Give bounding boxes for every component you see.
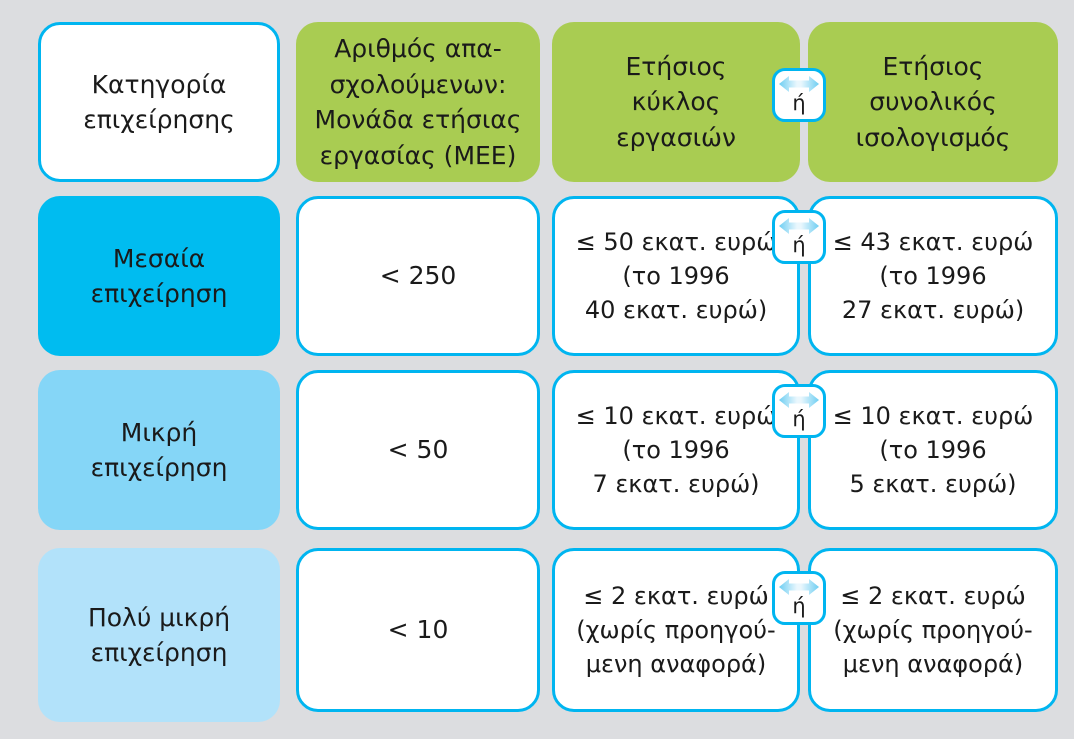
cell-small-balance: ≤ 10 εκατ. ευρώ (το 1996 5 εκατ. ευρώ): [808, 370, 1058, 530]
cell-medium-balance-value: ≤ 43 εκατ. ευρώ (το 1996 27 εκατ. ευρώ): [823, 225, 1044, 327]
or-connector-label-row-micro: ή: [792, 596, 805, 617]
row-label-small: Μικρή επιχείρηση: [38, 370, 280, 530]
cell-micro-turnover: ≤ 2 εκατ. ευρώ (χωρίς προηγού- μενη αναφ…: [552, 548, 800, 712]
header-cell-turnover: Ετήσιος κύκλος εργασιών: [552, 22, 800, 182]
row-label-medium: Μεσαία επιχείρηση: [38, 196, 280, 356]
or-connector-badge-row-medium: ή: [772, 210, 826, 264]
cell-small-turnover-value: ≤ 10 εκατ. ευρώ (το 1996 7 εκατ. ευρώ): [566, 399, 787, 501]
or-connector-badge-row-small: ή: [772, 384, 826, 438]
row-label-micro: Πολύ μικρή επιχείρηση: [38, 548, 280, 722]
cell-micro-balance-value: ≤ 2 εκατ. ευρώ (χωρίς προηγού- μενη αναφ…: [823, 579, 1042, 681]
cell-micro-balance: ≤ 2 εκατ. ευρώ (χωρίς προηγού- μενη αναφ…: [808, 548, 1058, 712]
sme-definition-table: Κατηγορία επιχείρησης Αριθμός απα- σχολο…: [0, 0, 1074, 739]
row-label-micro-text: Πολύ μικρή επιχείρηση: [78, 600, 240, 671]
header-cell-employees: Αριθμός απα- σχολούμενων: Μονάδα ετήσιας…: [296, 22, 540, 182]
or-connector-label-row-medium: ή: [792, 235, 805, 256]
header-employees-label: Αριθμός απα- σχολούμενων: Μονάδα ετήσιας…: [305, 31, 532, 173]
or-connector-badge-row-micro: ή: [772, 571, 826, 625]
cell-medium-turnover-value: ≤ 50 εκατ. ευρώ (το 1996 40 εκατ. ευρώ): [566, 225, 787, 327]
cell-medium-balance: ≤ 43 εκατ. ευρώ (το 1996 27 εκατ. ευρώ): [808, 196, 1058, 356]
row-label-small-text: Μικρή επιχείρηση: [81, 415, 238, 486]
header-category-label: Κατηγορία επιχείρησης: [73, 67, 245, 138]
or-connector-label-row-small: ή: [792, 409, 805, 430]
header-cell-category: Κατηγορία επιχείρησης: [38, 22, 280, 182]
cell-small-employees-value: < 50: [378, 432, 459, 468]
cell-micro-employees-value: < 10: [378, 612, 459, 648]
cell-medium-employees-value: < 250: [370, 258, 467, 294]
cell-small-turnover: ≤ 10 εκατ. ευρώ (το 1996 7 εκατ. ευρώ): [552, 370, 800, 530]
header-cell-balance: Ετήσιος συνολικός ισολογισμός: [808, 22, 1058, 182]
cell-medium-employees: < 250: [296, 196, 540, 356]
header-balance-label: Ετήσιος συνολικός ισολογισμός: [846, 49, 1021, 156]
cell-small-balance-value: ≤ 10 εκατ. ευρώ (το 1996 5 εκατ. ευρώ): [823, 399, 1044, 501]
cell-micro-employees: < 10: [296, 548, 540, 712]
cell-medium-turnover: ≤ 50 εκατ. ευρώ (το 1996 40 εκατ. ευρώ): [552, 196, 800, 356]
header-turnover-label: Ετήσιος κύκλος εργασιών: [606, 49, 746, 156]
row-label-medium-text: Μεσαία επιχείρηση: [81, 241, 238, 312]
or-connector-badge-header: ή: [772, 68, 826, 122]
cell-micro-turnover-value: ≤ 2 εκατ. ευρώ (χωρίς προηγού- μενη αναφ…: [566, 579, 785, 681]
or-connector-label-header: ή: [792, 93, 805, 114]
cell-small-employees: < 50: [296, 370, 540, 530]
